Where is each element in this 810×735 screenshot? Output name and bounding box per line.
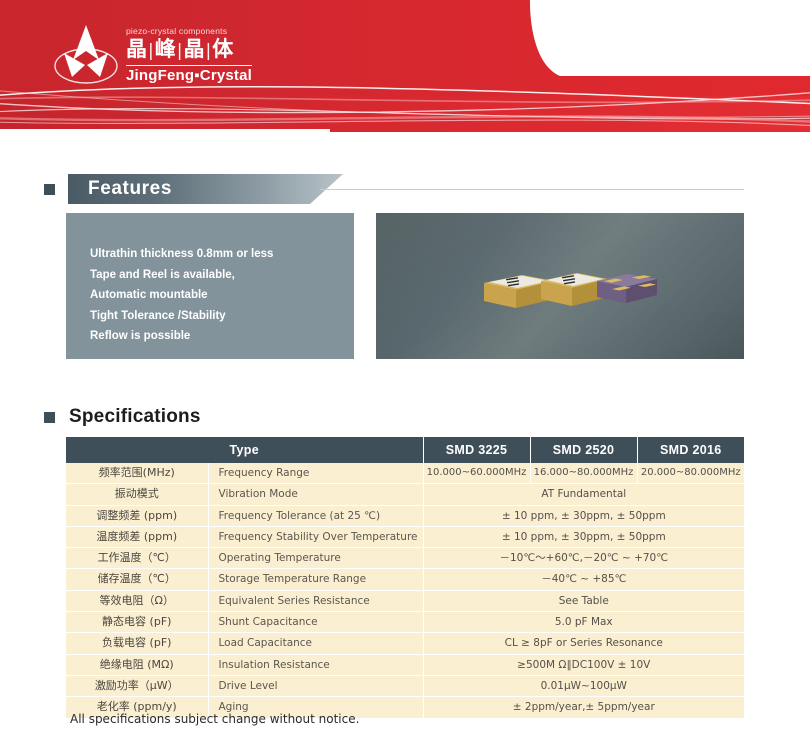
row-value-merged: ± 2ppm/year,± 5ppm/year — [423, 697, 744, 718]
table-row: 负载电容 (pF) Load Capacitance CL ≥ 8pF or S… — [66, 633, 744, 654]
table-header-smd3225: SMD 3225 — [423, 437, 530, 463]
table-row: 工作温度（℃） Operating Temperature －10℃～+60℃,… — [66, 548, 744, 569]
table-header-smd2016: SMD 2016 — [637, 437, 744, 463]
brand-cn-sep: | — [147, 41, 155, 61]
row-label-en: Storage Temperature Range — [208, 569, 423, 590]
table-row: 频率范围(MHz) Frequency Range 10.000~60.000M… — [66, 463, 744, 484]
brand-cn-sep: | — [176, 41, 184, 61]
bullet-square-icon — [44, 412, 55, 423]
row-label-en: Vibration Mode — [208, 484, 423, 505]
table-row: 储存温度（℃） Storage Temperature Range －40℃ ~… — [66, 569, 744, 590]
table-row: 调整频差 (ppm) Frequency Tolerance (at 25 ℃)… — [66, 505, 744, 526]
row-label-cn: 温度频差 (ppm) — [66, 526, 208, 547]
row-value-merged: ≥500M Ω∥DC100V ± 10V — [423, 654, 744, 675]
triangle-arrow-logo-icon — [52, 20, 120, 90]
row-label-en: Frequency Tolerance (at 25 ℃) — [208, 505, 423, 526]
row-value-merged: －10℃～+60℃,－20℃ ~ +70℃ — [423, 548, 744, 569]
table-body: 频率范围(MHz) Frequency Range 10.000~60.000M… — [66, 463, 744, 718]
row-label-en: Load Capacitance — [208, 633, 423, 654]
row-label-cn: 绝缘电阻 (MΩ) — [66, 654, 208, 675]
row-value-merged: 0.01μW~100μW — [423, 675, 744, 696]
features-title-bar: Features — [68, 174, 343, 204]
row-value-merged: ± 10 ppm, ± 30ppm, ± 50ppm — [423, 526, 744, 547]
table-row: 绝缘电阻 (MΩ) Insulation Resistance ≥500M Ω∥… — [66, 654, 744, 675]
features-list: Ultrathin thickness 0.8mm or less Tape a… — [90, 244, 273, 347]
bullet-square-icon — [44, 184, 55, 195]
brand-tagline: piezo-crystal components — [126, 26, 252, 37]
specifications-section-header: Specifications — [44, 406, 201, 428]
row-label-en: Frequency Stability Over Temperature — [208, 526, 423, 547]
feature-item: Ultrathin thickness 0.8mm or less — [90, 244, 273, 265]
row-label-cn: 激励功率（μW） — [66, 675, 208, 696]
brand-logo: piezo-crystal components 晶|峰|晶|体 JingFen… — [52, 16, 252, 94]
feature-item: Reflow is possible — [90, 326, 273, 347]
row-label-cn: 等效电阻（Ω） — [66, 590, 208, 611]
row-value-merged: ± 10 ppm, ± 30ppm, ± 50ppm — [423, 505, 744, 526]
table-row: 温度频差 (ppm) Frequency Stability Over Temp… — [66, 526, 744, 547]
feature-item: Tape and Reel is available, — [90, 265, 273, 286]
feature-item: Automatic mountable — [90, 285, 273, 306]
row-value-merged: 5.0 pF Max — [423, 612, 744, 633]
brand-name-cn: 晶|峰|晶|体 — [126, 37, 252, 64]
row-label-en: Operating Temperature — [208, 548, 423, 569]
table-row: 静态电容 (pF) Shunt Capacitance 5.0 pF Max — [66, 612, 744, 633]
row-label-cn: 调整频差 (ppm) — [66, 505, 208, 526]
table-row: 振动模式 Vibration Mode AT Fundamental — [66, 484, 744, 505]
row-value-merged: See Table — [423, 590, 744, 611]
brand-cn-1: 晶 — [126, 37, 147, 61]
row-label-cn: 负载电容 (pF) — [66, 633, 208, 654]
table-row: 等效电阻（Ω） Equivalent Series Resistance See… — [66, 590, 744, 611]
row-value-smd2016: 20.000~80.000MHz — [637, 463, 744, 484]
row-label-en: Shunt Capacitance — [208, 612, 423, 633]
row-label-en: Equivalent Series Resistance — [208, 590, 423, 611]
footer-note: All specifications subject change withou… — [70, 712, 359, 726]
row-value-merged: －40℃ ~ +85℃ — [423, 569, 744, 590]
page-banner: piezo-crystal components 晶|峰|晶|体 JingFen… — [0, 0, 810, 143]
row-label-cn: 频率范围(MHz) — [66, 463, 208, 484]
row-value-smd3225: 10.000~60.000MHz — [423, 463, 530, 484]
row-label-en: Insulation Resistance — [208, 654, 423, 675]
brand-name-en: JingFeng▪Crystal — [126, 65, 252, 85]
row-label-en: Drive Level — [208, 675, 423, 696]
product-photo-graphic — [376, 213, 744, 359]
row-value-merged: CL ≥ 8pF or Series Resonance — [423, 633, 744, 654]
product-image — [376, 213, 744, 359]
row-value-merged: AT Fundamental — [423, 484, 744, 505]
features-panel: Ultrathin thickness 0.8mm or less Tape a… — [66, 213, 354, 359]
row-value-smd2520: 16.000~80.000MHz — [530, 463, 637, 484]
table-row: 激励功率（μW） Drive Level 0.01μW~100μW — [66, 675, 744, 696]
specifications-table: Type SMD 3225 SMD 2520 SMD 2016 频率范围(MHz… — [66, 437, 744, 718]
features-section-header: Features — [44, 174, 343, 204]
row-label-cn: 工作温度（℃） — [66, 548, 208, 569]
table-header-type: Type — [66, 437, 423, 463]
row-label-cn: 储存温度（℃） — [66, 569, 208, 590]
brand-cn-4: 体 — [212, 37, 233, 61]
table-header-smd2520: SMD 2520 — [530, 437, 637, 463]
specifications-title: Specifications — [69, 406, 201, 428]
row-label-en: Frequency Range — [208, 463, 423, 484]
brand-cn-3: 晶 — [183, 37, 204, 61]
row-label-cn: 振动模式 — [66, 484, 208, 505]
brand-cn-sep: | — [204, 41, 212, 61]
features-title: Features — [88, 174, 172, 204]
row-label-cn: 静态电容 (pF) — [66, 612, 208, 633]
table-header-row: Type SMD 3225 SMD 2520 SMD 2016 — [66, 437, 744, 463]
features-divider — [320, 189, 744, 190]
brand-cn-2: 峰 — [155, 37, 176, 61]
feature-item: Tight Tolerance /Stability — [90, 306, 273, 327]
